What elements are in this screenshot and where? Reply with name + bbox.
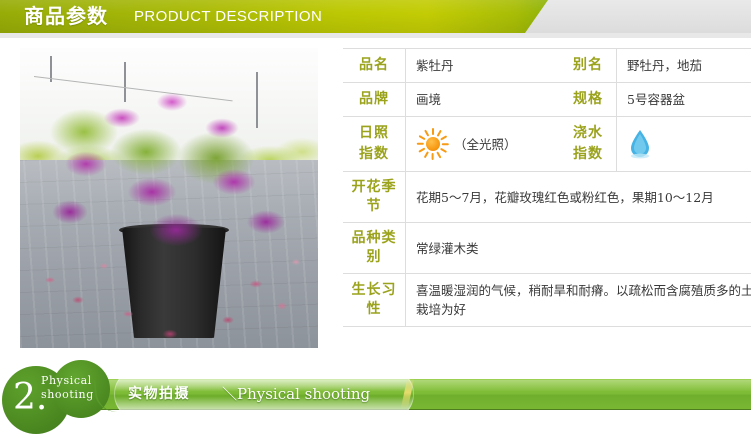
spec-label-size: 规格 bbox=[560, 83, 617, 117]
spec-label-watering-line1: 浇水 bbox=[562, 123, 614, 144]
section-badge-text: Physical shooting bbox=[41, 374, 94, 402]
spec-value-name: 紫牡丹 bbox=[406, 49, 561, 83]
table-row: 品名 紫牡丹 别名 野牡丹，地茄 bbox=[343, 49, 751, 83]
spec-label-bloom-season: 开花季节 bbox=[343, 172, 406, 223]
section-badge-text-line1: Physical bbox=[41, 374, 94, 388]
spec-label-watering-line2: 指数 bbox=[562, 144, 614, 165]
page-title-cn: 商品参数 bbox=[24, 2, 108, 31]
spec-label-watering: 浇水 指数 bbox=[560, 117, 617, 172]
spec-value-brand: 画境 bbox=[406, 83, 561, 117]
spec-label-variety-type: 品种类别 bbox=[343, 223, 406, 274]
spec-label-sunlight: 日照 指数 bbox=[343, 117, 406, 172]
spec-value-sunlight-text: （全光照） bbox=[454, 135, 517, 154]
spec-label-sunlight-line1: 日照 bbox=[345, 123, 403, 144]
water-drop-icon bbox=[627, 128, 653, 160]
table-row: 品牌 画境 规格 5号容器盆 bbox=[343, 83, 751, 117]
table-row: 品种类别 常绿灌木类 bbox=[343, 223, 751, 274]
spec-value-watering bbox=[617, 117, 751, 172]
section-title-cn: 实物拍摄 bbox=[128, 385, 190, 403]
section-title-en: ＼Physical shooting bbox=[222, 384, 370, 404]
product-spec-table: 品名 紫牡丹 别名 野牡丹，地茄 品牌 画境 规格 5号容器盆 日照 指数 bbox=[343, 48, 751, 327]
section-badge-text-line2: shooting bbox=[41, 388, 94, 402]
physical-shooting-section-header: 实物拍摄 ＼Physical shooting 2. Physical shoo… bbox=[0, 360, 751, 437]
page-header-banner: 商品参数 PRODUCT DESCRIPTION bbox=[0, 0, 751, 38]
photo-fallen-petals bbox=[20, 248, 318, 348]
table-row: 生长习性 喜温暖湿润的气候，稍耐旱和耐瘠。以疏松而含腐殖质多的土壤栽培为好 bbox=[343, 274, 751, 327]
spec-value-size: 5号容器盆 bbox=[617, 83, 751, 117]
spec-label-alias: 别名 bbox=[560, 49, 617, 83]
sun-icon bbox=[416, 127, 450, 161]
spec-value-bloom-season: 花期5～7月，花瓣玫瑰红色或粉红色，果期10～12月 bbox=[406, 172, 751, 223]
spec-label-sunlight-line2: 指数 bbox=[345, 144, 403, 165]
table-row: 开花季节 花期5～7月，花瓣玫瑰红色或粉红色，果期10～12月 bbox=[343, 172, 751, 223]
photo-flowering-bush bbox=[26, 72, 312, 272]
header-underline bbox=[0, 33, 751, 38]
spec-label-growth-habit: 生长习性 bbox=[343, 274, 406, 327]
spec-value-growth-habit: 喜温暖湿润的气候，稍耐旱和耐瘠。以疏松而含腐殖质多的土壤栽培为好 bbox=[406, 274, 751, 327]
table-row: 日照 指数 （全光照） bbox=[343, 117, 751, 172]
spec-value-variety-type: 常绿灌木类 bbox=[406, 223, 751, 274]
page-title-en: PRODUCT DESCRIPTION bbox=[134, 6, 322, 28]
spec-value-sunlight: （全光照） bbox=[406, 117, 561, 172]
spec-label-brand: 品牌 bbox=[343, 83, 406, 117]
product-photo bbox=[20, 48, 318, 348]
spec-value-alias: 野牡丹，地茄 bbox=[617, 49, 751, 83]
spec-label-name: 品名 bbox=[343, 49, 406, 83]
